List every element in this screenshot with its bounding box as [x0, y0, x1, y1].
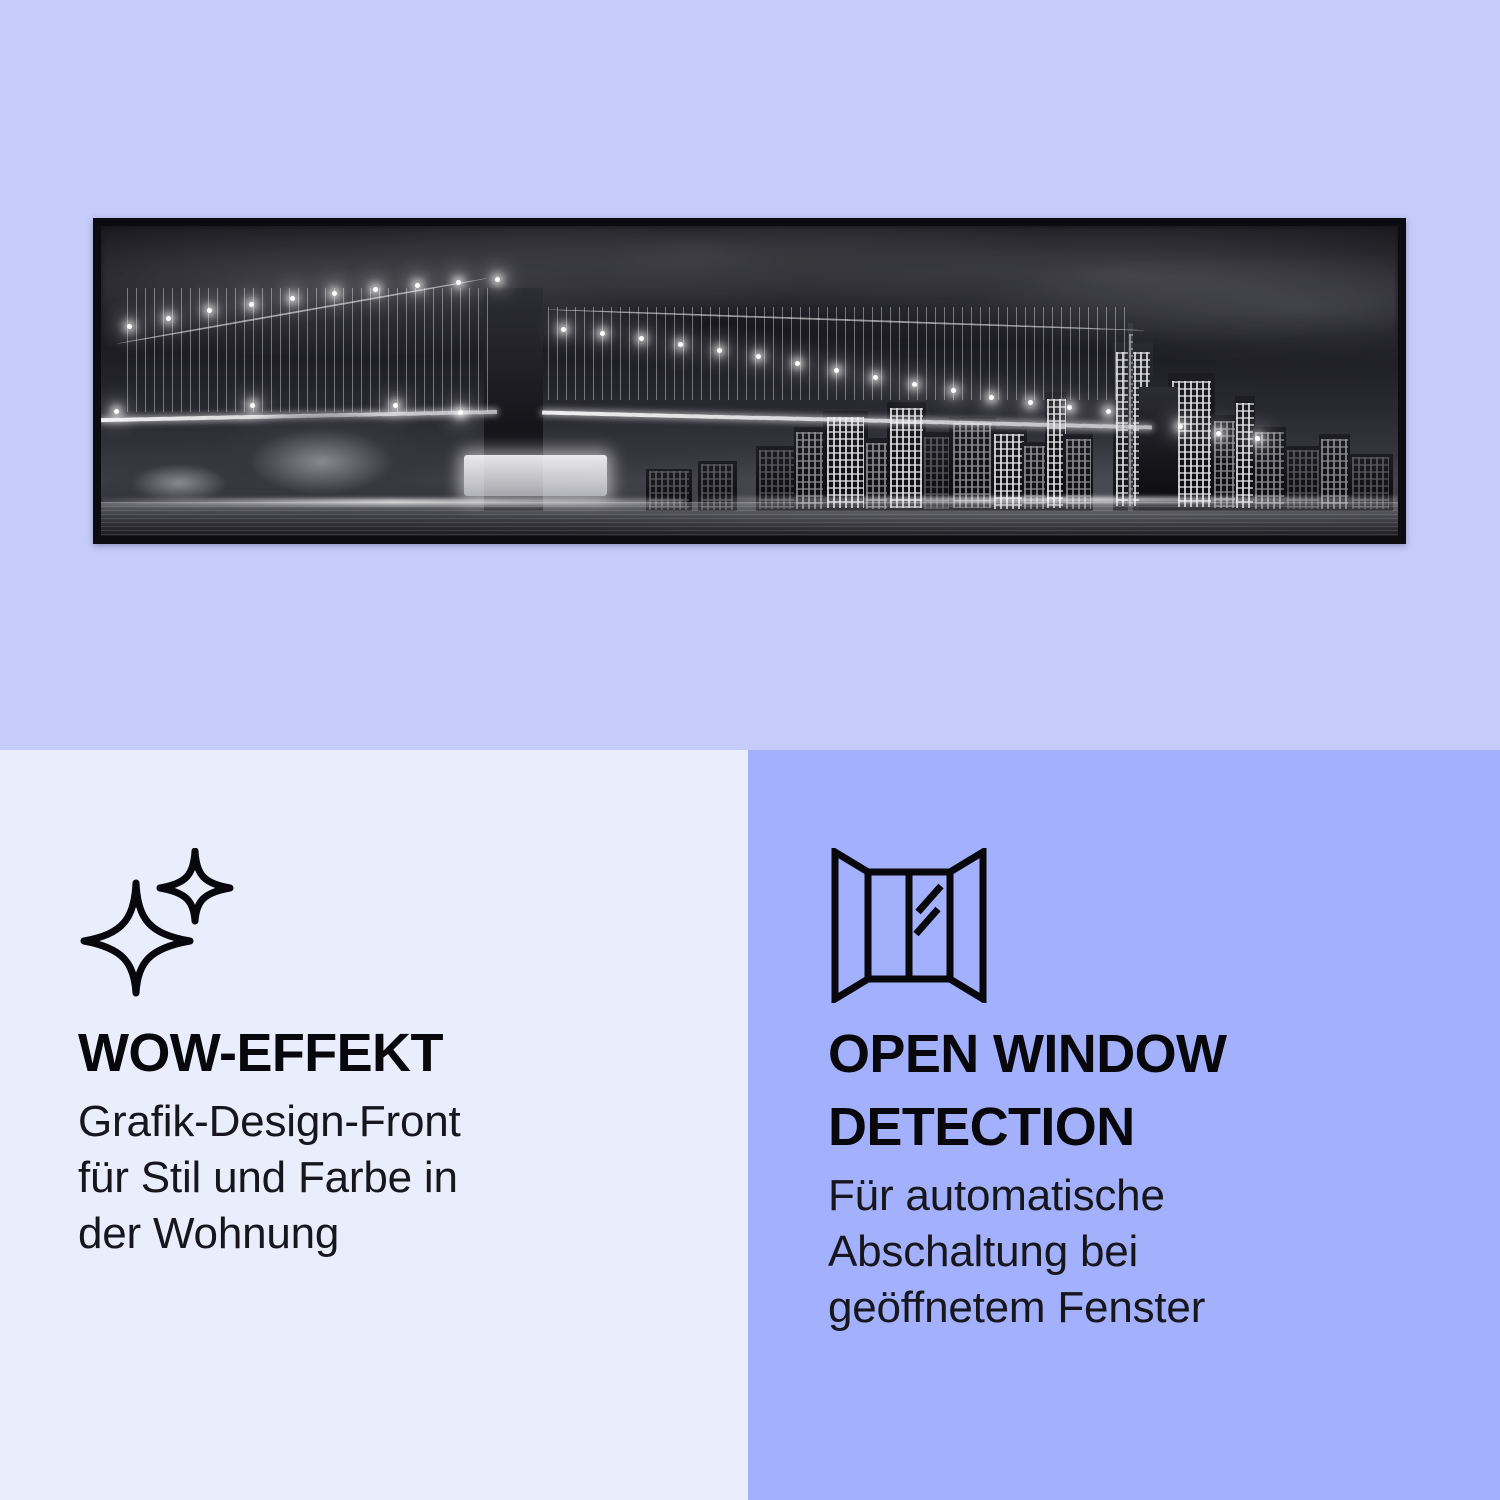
feature-description: Grafik-Design-Front für Stil und Farbe i… — [78, 1094, 678, 1262]
janes-carousel — [464, 455, 607, 495]
feature-title: OPEN WINDOW DETECTION — [828, 1018, 1430, 1164]
framed-artwork — [93, 218, 1406, 544]
open-window-icon — [828, 848, 1430, 1018]
feature-description: Für automatische Abschaltung bei geöffne… — [828, 1168, 1430, 1336]
brooklyn-bridge-night-photo — [101, 226, 1398, 536]
bridge-tower-right — [1139, 387, 1178, 511]
feature-card-open-window-detection: OPEN WINDOW DETECTION Für automatische A… — [748, 750, 1500, 1500]
feature-title: WOW-EFFEKT — [78, 1018, 678, 1088]
product-feature-infographic: WOW-EFFEKT Grafik-Design-Front für Stil … — [0, 0, 1500, 1500]
sparkle-icon — [78, 848, 678, 1018]
hero-section — [0, 0, 1500, 750]
east-river-water — [101, 502, 1398, 536]
feature-card-wow-effekt: WOW-EFFEKT Grafik-Design-Front für Stil … — [0, 750, 748, 1500]
feature-panels: WOW-EFFEKT Grafik-Design-Front für Stil … — [0, 750, 1500, 1500]
